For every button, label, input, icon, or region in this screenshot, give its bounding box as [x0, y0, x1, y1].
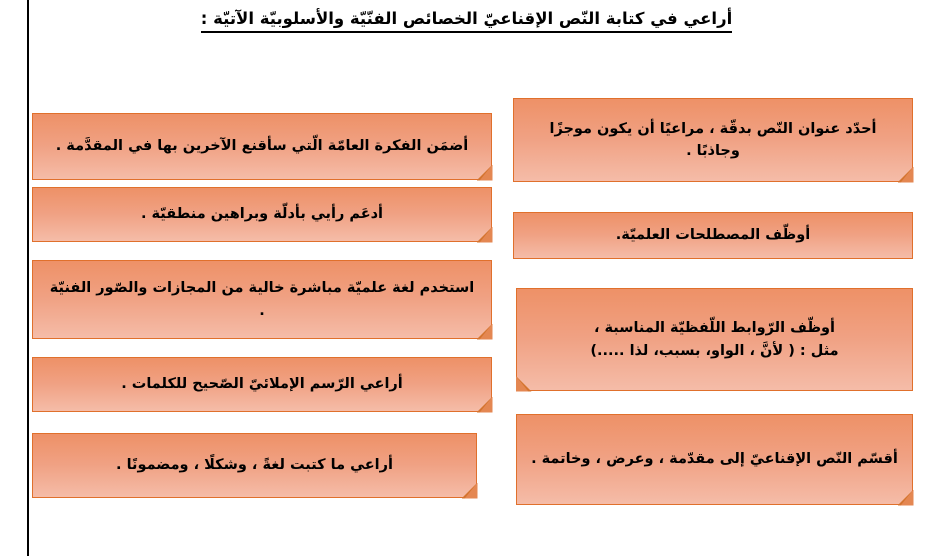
folded-corner-icon	[462, 483, 478, 499]
callout-evidence-text: أدعَم رأيي بأدلّة وبراهين منطقيّة .	[33, 203, 491, 225]
callout-review-text: أراعي ما كتبت لغةً ، وشكلًا ، ومضمونًا .	[33, 454, 476, 476]
callout-connectors: أوظّف الرّوابط اللّفظيّة المناسبة ، مثل …	[516, 288, 913, 391]
folded-corner-icon	[477, 324, 493, 340]
callout-main-idea: أضمَن الفكرة العامّة الّتي سأقنع الآخرين…	[32, 113, 492, 180]
callout-scientific-language: استخدم لغة علميّة مباشرة خالية من المجاز…	[32, 260, 492, 339]
callout-title-selection-text: أحدّد عنوان النّص بدقّة ، مراعيًا أن يكو…	[514, 118, 912, 163]
callout-scientific-language-text: استخدم لغة علميّة مباشرة خالية من المجاز…	[33, 277, 491, 322]
callout-structure-text: أقسّم النّص الإقناعيّ إلى مقدّمة ، وعرض …	[517, 448, 912, 470]
callout-evidence: أدعَم رأيي بأدلّة وبراهين منطقيّة .	[32, 187, 492, 242]
page-title-container: أراعي في كتابة النّص الإقناعيّ الخصائص ا…	[0, 8, 933, 33]
folded-corner-icon	[516, 376, 532, 392]
folded-corner-icon	[898, 490, 914, 506]
diagram-page: أراعي في كتابة النّص الإقناعيّ الخصائص ا…	[0, 0, 933, 556]
callout-terminology-text: أوظّف المصطلحات العلميّة.	[514, 224, 912, 246]
callout-spelling-text: أراعي الرّسم الإملائيّ الصّحيح للكلمات .	[33, 373, 491, 395]
folded-corner-icon	[898, 167, 914, 183]
folded-corner-icon	[477, 165, 493, 181]
callout-connectors-text: أوظّف الرّوابط اللّفظيّة المناسبة ، مثل …	[517, 317, 912, 362]
callout-spelling: أراعي الرّسم الإملائيّ الصّحيح للكلمات .	[32, 357, 492, 412]
callout-terminology: أوظّف المصطلحات العلميّة.	[513, 212, 913, 259]
page-title: أراعي في كتابة النّص الإقناعيّ الخصائص ا…	[201, 8, 732, 33]
callout-title-selection: أحدّد عنوان النّص بدقّة ، مراعيًا أن يكو…	[513, 98, 913, 182]
callout-structure: أقسّم النّص الإقناعيّ إلى مقدّمة ، وعرض …	[516, 414, 913, 505]
page-left-rule	[27, 0, 29, 556]
callout-main-idea-text: أضمَن الفكرة العامّة الّتي سأقنع الآخرين…	[33, 135, 491, 157]
folded-corner-icon	[477, 227, 493, 243]
callout-review: أراعي ما كتبت لغةً ، وشكلًا ، ومضمونًا .	[32, 433, 477, 498]
folded-corner-icon	[477, 397, 493, 413]
